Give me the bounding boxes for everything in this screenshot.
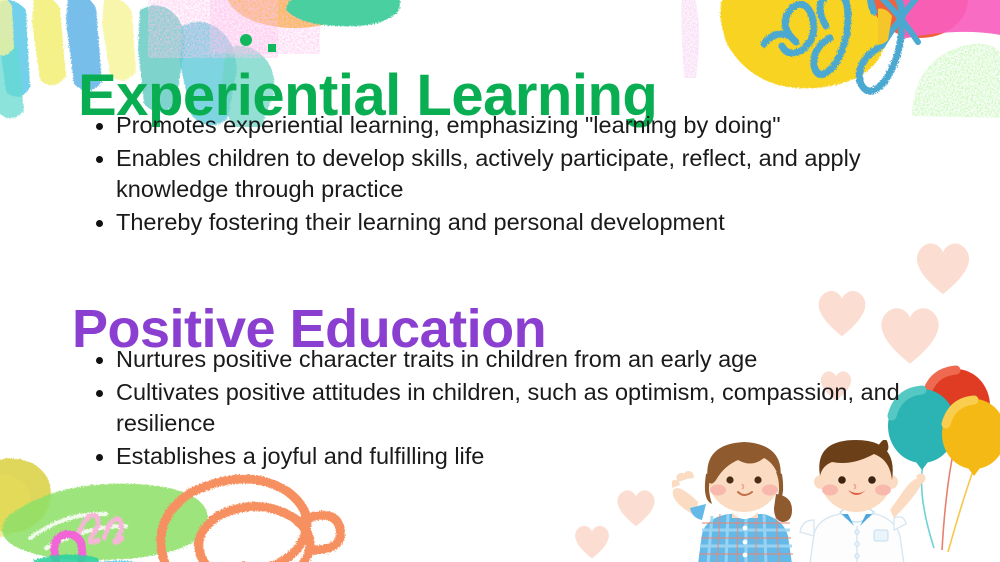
list-item: Cultivates positive attitudes in childre… xyxy=(92,377,912,440)
bullet-list-positive-education: Nurtures positive character traits in ch… xyxy=(92,344,912,474)
slide-content: Experiential Learning Promotes experient… xyxy=(0,0,1000,562)
list-item: Promotes experiential learning, emphasiz… xyxy=(92,110,912,142)
presentation-slide: Experiential Learning Promotes experient… xyxy=(0,0,1000,562)
list-item: Enables children to develop skills, acti… xyxy=(92,143,912,206)
list-item: Thereby fostering their learning and per… xyxy=(92,207,912,239)
list-item: Nurtures positive character traits in ch… xyxy=(92,344,912,376)
bullet-list-experiential-learning: Promotes experiential learning, emphasiz… xyxy=(92,110,912,240)
list-item: Establishes a joyful and fulfilling life xyxy=(92,441,912,473)
